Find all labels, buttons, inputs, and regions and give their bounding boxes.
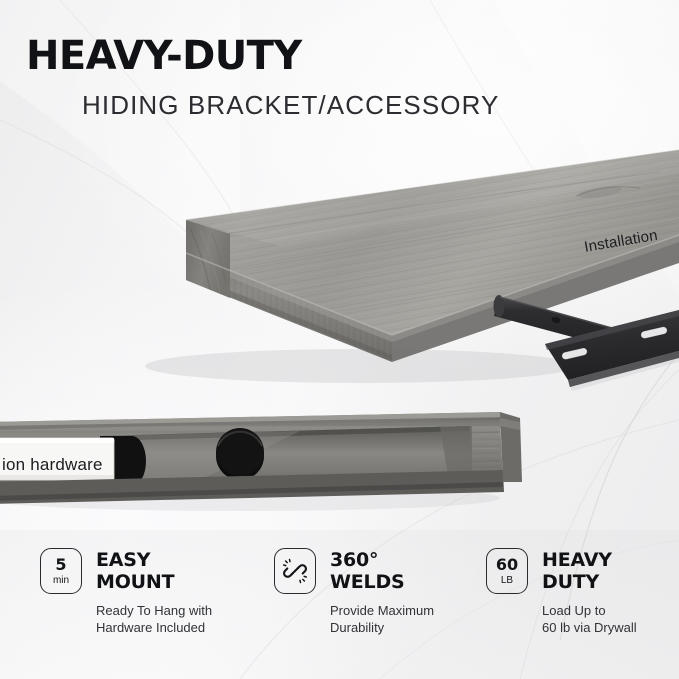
feature-title-line1: 360°	[330, 549, 405, 571]
feature-desc-line1: Provide Maximum	[330, 603, 486, 620]
badge-value: 5	[55, 557, 66, 573]
badge-60-lb: 60 LB	[486, 548, 528, 594]
feature-description: Ready To Hang with Hardware Included	[40, 594, 272, 637]
badge-unit: LB	[501, 576, 513, 586]
header: HEAVY-DUTY HIDING BRACKET/ACCESSORY	[0, 0, 679, 118]
feature-head: 5 min EASY MOUNT	[40, 548, 272, 594]
product-image-area	[0, 130, 679, 530]
feature-title: HEAVY DUTY	[542, 548, 612, 593]
feature-title-line2: DUTY	[542, 571, 612, 593]
feature-head: 360° WELDS	[274, 548, 486, 594]
feature-heavy-duty: 60 LB HEAVY DUTY Load Up to 60 lb via Dr…	[486, 548, 679, 668]
product-marketing-image: HEAVY-DUTY HIDING BRACKET/ACCESSORY	[0, 0, 679, 679]
chain-link-icon	[282, 558, 308, 584]
feature-description: Load Up to 60 lb via Drywall	[486, 594, 679, 637]
badge-unit: min	[53, 576, 69, 586]
feature-desc-line2: 60 lb via Drywall	[542, 620, 679, 637]
feature-description: Provide Maximum Durability	[274, 594, 486, 637]
feature-360-welds: 360° WELDS Provide Maximum Durability	[272, 548, 486, 668]
feature-head: 60 LB HEAVY DUTY	[486, 548, 679, 594]
feature-row: 5 min EASY MOUNT Ready To Hang with Hard…	[0, 548, 679, 668]
page-subtitle: HIDING BRACKET/ACCESSORY	[0, 76, 679, 118]
page-title: HEAVY-DUTY	[0, 36, 679, 76]
feature-title: EASY MOUNT	[96, 548, 174, 593]
feature-desc-line2: Durability	[330, 620, 486, 637]
badge-5-min: 5 min	[40, 548, 82, 594]
feature-easy-mount: 5 min EASY MOUNT Ready To Hang with Hard…	[0, 548, 272, 668]
feature-title-line2: MOUNT	[96, 571, 174, 593]
feature-title-line2: WELDS	[330, 571, 405, 593]
feature-desc-line1: Ready To Hang with	[96, 603, 272, 620]
feature-title: 360° WELDS	[330, 548, 405, 593]
badge-value: 60	[496, 557, 518, 573]
badge-chain-link	[274, 548, 316, 594]
feature-title-line1: EASY	[96, 549, 174, 571]
feature-desc-line2: Hardware Included	[96, 620, 272, 637]
feature-title-line1: HEAVY	[542, 549, 612, 571]
feature-desc-line1: Load Up to	[542, 603, 679, 620]
product-illustration	[0, 130, 679, 530]
